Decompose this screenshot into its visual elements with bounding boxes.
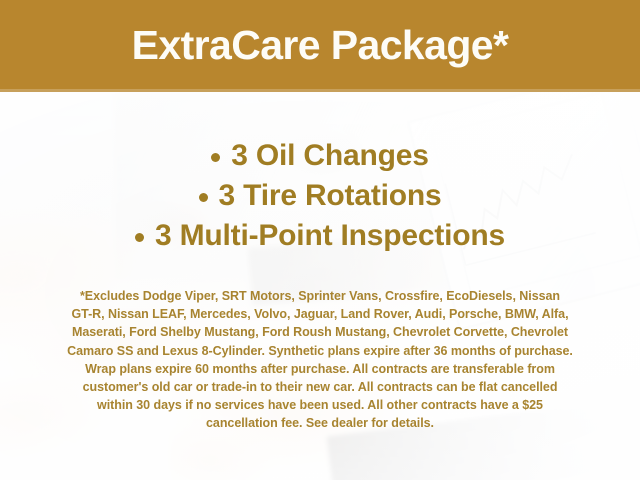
benefit-label: 3 Tire Rotations xyxy=(219,176,442,216)
page-title: ExtraCare Package* xyxy=(132,25,509,68)
disclaimer-line: GT-R, Nissan LEAF, Mercedes, Volvo, Jagu… xyxy=(24,305,616,323)
bullet-dot-icon xyxy=(135,233,144,242)
disclaimer-line: within 30 days if no services have been … xyxy=(24,396,616,414)
bullet-dot-icon xyxy=(199,193,208,202)
disclaimer-line: *Excludes Dodge Viper, SRT Motors, Sprin… xyxy=(24,287,616,305)
disclaimer-text: *Excludes Dodge Viper, SRT Motors, Sprin… xyxy=(0,287,640,433)
disclaimer-line: Wrap plans expire 60 months after purcha… xyxy=(24,360,616,378)
benefit-item-tire-rotations: 3 Tire Rotations xyxy=(199,176,442,216)
extracare-package-banner: ExtraCare Package* 3 Oil Changes 3 Tire … xyxy=(0,0,640,480)
disclaimer-line: Camaro SS and Lexus 8-Cylinder. Syntheti… xyxy=(24,342,616,360)
benefit-item-multi-point-inspections: 3 Multi-Point Inspections xyxy=(135,216,505,256)
benefit-label: 3 Multi-Point Inspections xyxy=(155,216,505,256)
bullet-dot-icon xyxy=(211,153,220,162)
benefit-item-oil-changes: 3 Oil Changes xyxy=(211,136,428,176)
benefit-label: 3 Oil Changes xyxy=(231,136,428,176)
header-bar: ExtraCare Package* xyxy=(0,0,640,92)
benefits-list: 3 Oil Changes 3 Tire Rotations 3 Multi-P… xyxy=(0,136,640,257)
disclaimer-line: Maserati, Ford Shelby Mustang, Ford Rous… xyxy=(24,323,616,341)
disclaimer-line: cancellation fee. See dealer for details… xyxy=(24,414,616,432)
disclaimer-line: customer's old car or trade-in to their … xyxy=(24,378,616,396)
